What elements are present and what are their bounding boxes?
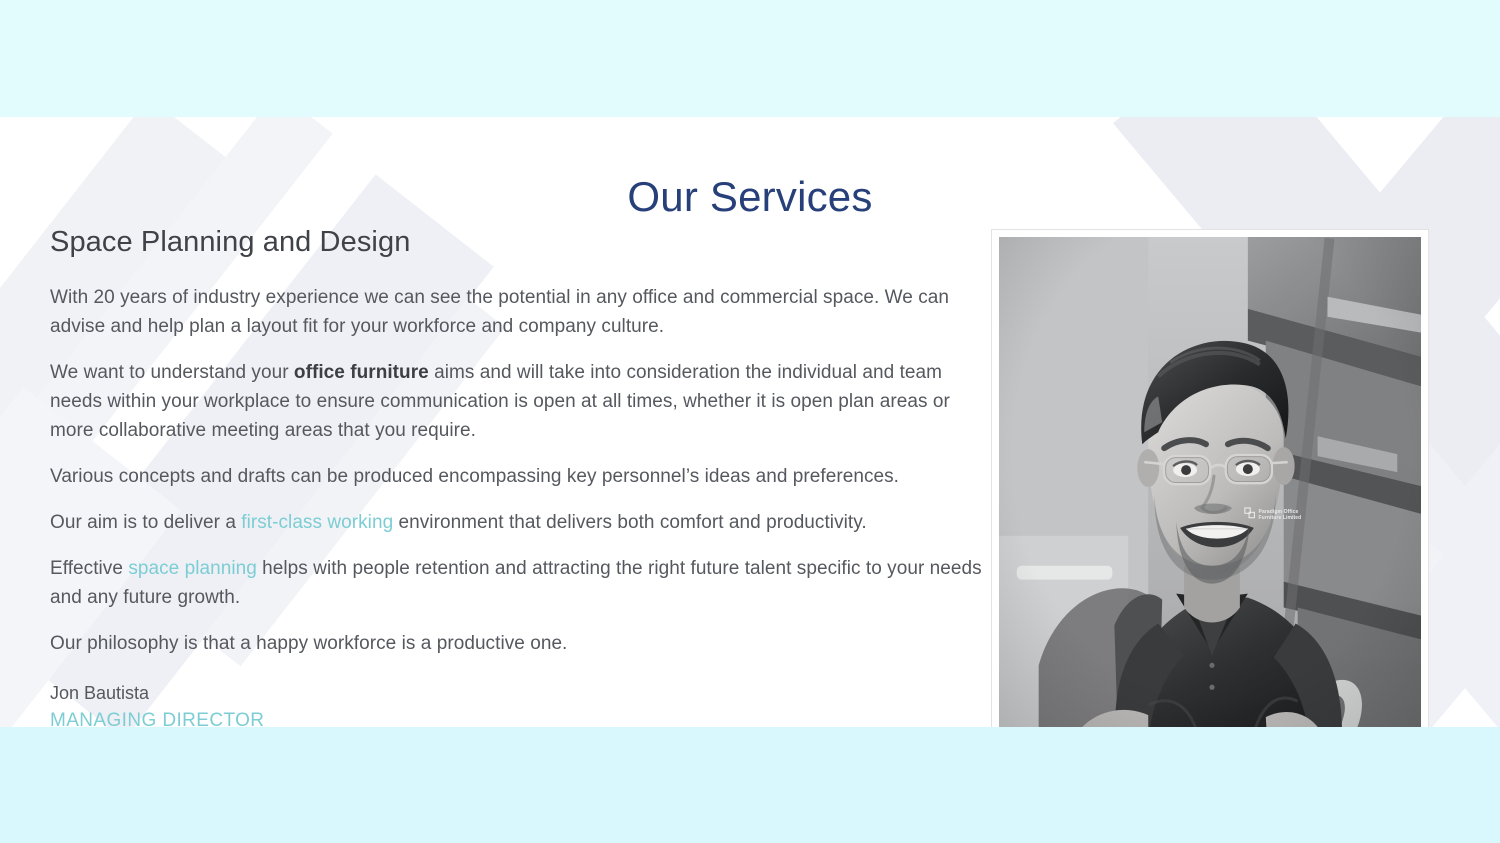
portrait-photo-frame: Paradigm Office Furniture Limited <box>991 229 1429 727</box>
portrait-photo: Paradigm Office Furniture Limited <box>999 237 1421 727</box>
paragraph: Various concepts and drafts can be produ… <box>50 462 985 491</box>
paragraph: Our philosophy is that a happy workforce… <box>50 629 985 658</box>
shirt-logo-text: Paradigm Office Furniture Limited <box>1259 509 1302 521</box>
top-accent-band <box>0 0 1500 117</box>
bottom-accent-band <box>0 727 1500 843</box>
section-heading: Space Planning and Design <box>50 225 985 260</box>
text-column: Space Planning and Design With 20 years … <box>50 225 985 727</box>
section-content: Our Services Space Planning and Design W… <box>0 117 1500 727</box>
portrait-illustration <box>999 237 1421 727</box>
shirt-logo-line2: Furniture Limited <box>1259 515 1302 521</box>
paragraph: With 20 years of industry experience we … <box>50 283 985 341</box>
paragraph: Our aim is to deliver a first-class work… <box>50 508 985 537</box>
services-page: Our Services Space Planning and Design W… <box>0 0 1500 843</box>
services-section: Our Services Space Planning and Design W… <box>0 117 1500 727</box>
signature-name: Jon Bautista <box>50 680 985 707</box>
inline-link[interactable]: first-class working <box>241 512 393 533</box>
emphasis-text: office furniture <box>294 362 429 383</box>
paragraph: Effective space planning helps with peop… <box>50 554 985 612</box>
page-title: Our Services <box>0 174 1500 220</box>
inline-link[interactable]: space planning <box>128 558 257 579</box>
paragraph: We want to understand your office furnit… <box>50 358 985 445</box>
signature-block: Jon Bautista MANAGING DIRECTOR <box>50 680 985 727</box>
signature-role: MANAGING DIRECTOR <box>50 707 985 727</box>
